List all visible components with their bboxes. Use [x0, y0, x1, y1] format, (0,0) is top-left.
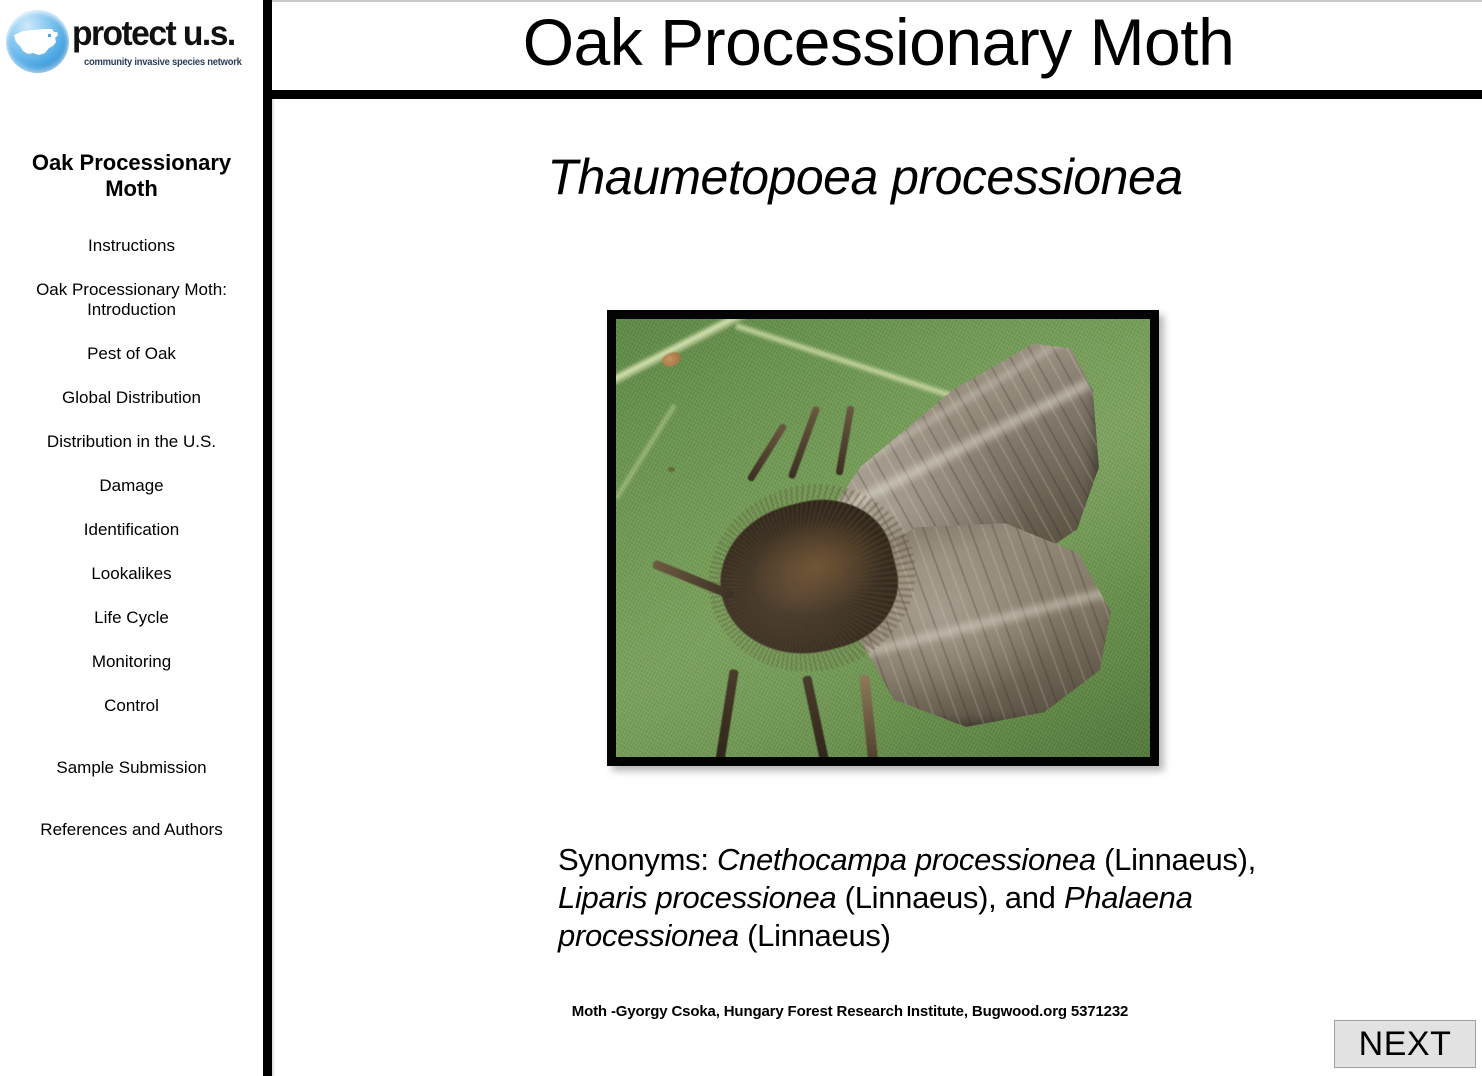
logo-wordmark: protect u.s.	[72, 15, 235, 53]
sidebar-item-sample-submission[interactable]: Sample Submission	[0, 758, 263, 778]
sidebar-item-distribution-us[interactable]: Distribution in the U.S.	[0, 432, 263, 452]
moth-antenna-right	[835, 405, 854, 475]
synonym-1-authority: (Linnaeus),	[1104, 842, 1256, 877]
sidebar-nav: Instructions Oak Processionary Moth: Int…	[0, 236, 263, 840]
synonym-3-authority: (Linnaeus)	[747, 918, 890, 953]
sidebar-item-damage[interactable]: Damage	[0, 476, 263, 496]
synonym-1-name: Cnethocampa processionea	[717, 842, 1096, 877]
sidebar-item-global-distribution[interactable]: Global Distribution	[0, 388, 263, 408]
moth-antenna-left	[747, 423, 788, 483]
synonyms-text: Synonyms: Cnethocampa processionea (Linn…	[558, 841, 1298, 955]
sidebar-item-monitoring[interactable]: Monitoring	[0, 652, 263, 672]
header-rule	[272, 90, 1482, 99]
sidebar-divider	[263, 0, 272, 1076]
moth-photo	[607, 310, 1159, 766]
next-button[interactable]: NEXT	[1334, 1020, 1476, 1068]
sidebar-item-introduction[interactable]: Oak Processionary Moth: Introduction	[0, 280, 263, 320]
moth-body	[616, 319, 1150, 757]
sidebar-item-lookalikes[interactable]: Lookalikes	[0, 564, 263, 584]
sidebar-heading: Oak Processionary Moth	[0, 150, 263, 202]
moth-leg-middle	[802, 675, 831, 766]
sidebar: protect u.s. community invasive species …	[0, 0, 263, 1076]
photo-credit: Moth -Gyorgy Csoka, Hungary Forest Resea…	[275, 1003, 1425, 1020]
synonym-2-authority: (Linnaeus), and	[845, 880, 1056, 915]
sidebar-item-identification[interactable]: Identification	[0, 520, 263, 540]
moth-leg-rear	[859, 675, 879, 766]
moth-leg-front	[714, 669, 739, 766]
sidebar-item-pest-of-oak[interactable]: Pest of Oak	[0, 344, 263, 364]
protect-us-logo[interactable]: protect u.s. community invasive species …	[0, 2, 263, 88]
sidebar-item-references-authors[interactable]: References and Authors	[0, 820, 263, 840]
sidebar-item-instructions[interactable]: Instructions	[0, 236, 263, 256]
sidebar-item-control[interactable]: Control	[0, 696, 263, 716]
scientific-name: Thaumetopoea processionea	[275, 148, 1455, 206]
sidebar-divider-shadow	[272, 99, 275, 1076]
moth-antenna-middle	[788, 406, 821, 480]
synonyms-label: Synonyms:	[558, 842, 709, 877]
us-map-globe-icon	[6, 10, 69, 73]
sidebar-item-life-cycle[interactable]: Life Cycle	[0, 608, 263, 628]
synonym-2-name: Liparis processionea	[558, 880, 836, 915]
slide-page: protect u.s. community invasive species …	[0, 0, 1482, 1076]
page-title: Oak Processionary Moth	[275, 0, 1482, 88]
logo-tagline: community invasive species network	[84, 57, 242, 68]
